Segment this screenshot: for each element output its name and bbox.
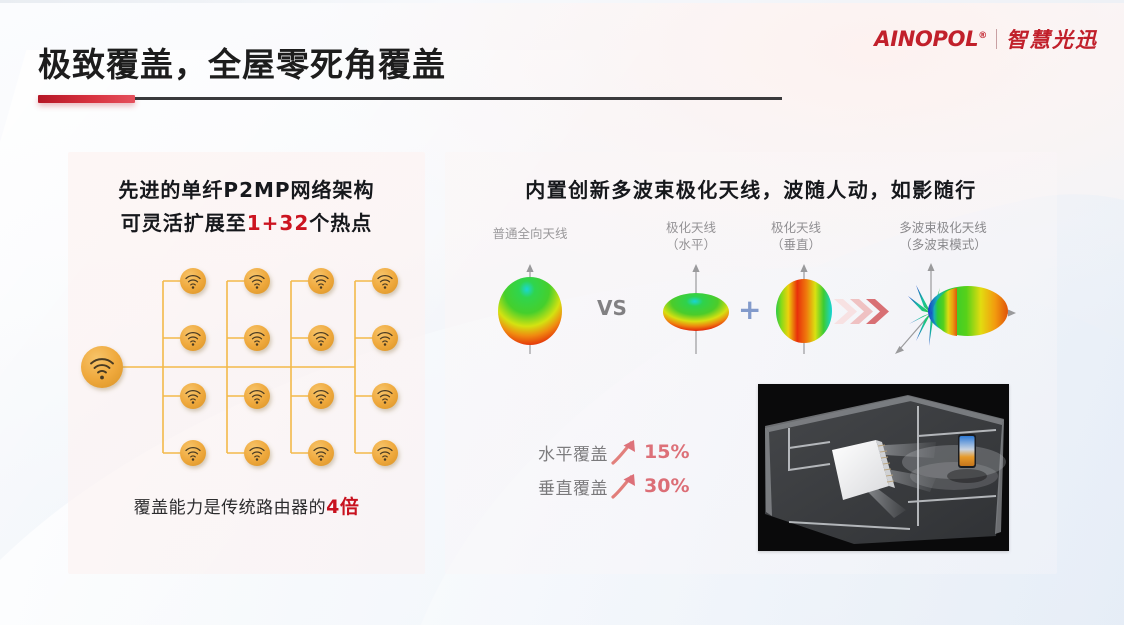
antenna-figure-horizontal: [650, 258, 750, 368]
wifi-node[interactable]: [372, 268, 398, 294]
wifi-node[interactable]: [308, 268, 334, 294]
antenna-figure-vertical: [760, 258, 860, 368]
antenna-figure-multibeam: [885, 258, 1025, 373]
network-links: [120, 281, 374, 453]
wifi-node[interactable]: [308, 383, 334, 409]
main-lobe-throat: [931, 288, 957, 336]
caption-prefix: 覆盖能力是传统路由器的: [134, 498, 327, 518]
left-panel-heading-line2: 可灵活扩展至1+32个热点: [68, 207, 425, 236]
wifi-node[interactable]: [180, 325, 206, 351]
page-title: 极致覆盖，全屋零死角覆盖: [38, 38, 446, 86]
wifi-node[interactable]: [372, 440, 398, 466]
heading-highlight: 1+32: [247, 211, 310, 235]
wifi-node[interactable]: [244, 440, 270, 466]
p2mp-network-diagram: [78, 252, 418, 482]
network-diagram-svg: [78, 252, 418, 482]
title-underline: [38, 94, 782, 103]
logo-wordmark-text: AINOPOL: [874, 27, 978, 51]
wifi-node[interactable]: [372, 325, 398, 351]
radiation-pattern: [498, 277, 562, 345]
wifi-node[interactable]: [180, 383, 206, 409]
logo-divider: [996, 29, 997, 49]
wifi-node[interactable]: [244, 383, 270, 409]
left-panel-heading-line1: 先进的单纤P2MP网络架构: [68, 174, 425, 203]
network-hub-node[interactable]: [81, 346, 123, 388]
right-panel-heading: 内置创新多波束极化天线，波随人动，如影随行: [445, 174, 1057, 203]
wifi-node[interactable]: [244, 325, 270, 351]
title-underline-line: [135, 97, 782, 100]
heading-suffix: 个热点: [309, 211, 372, 235]
caption-highlight: 4倍: [326, 496, 359, 518]
wifi-node[interactable]: [180, 440, 206, 466]
wifi-node[interactable]: [372, 383, 398, 409]
heading-prefix: 可灵活扩展至: [121, 211, 247, 235]
logo-wordmark: AINOPOL®: [874, 27, 987, 51]
logo-registered-mark: ®: [978, 31, 987, 41]
wifi-node[interactable]: [180, 268, 206, 294]
left-panel-caption: 覆盖能力是传统路由器的4倍: [68, 492, 425, 519]
radiation-pattern: [663, 293, 729, 331]
antenna-figure-omni: [478, 258, 588, 368]
room-coverage-render: [758, 384, 1009, 551]
slide-header: 极致覆盖，全屋零死角覆盖 AINOPOL® 智慧光迅: [0, 0, 1124, 120]
title-underline-accent: [38, 95, 135, 103]
brand-logo: AINOPOL® 智慧光迅: [874, 24, 1098, 54]
left-panel: 先进的单纤P2MP网络架构 可灵活扩展至1+32个热点: [68, 152, 425, 574]
logo-chinese-name: 智慧光迅: [1006, 24, 1098, 54]
wifi-node[interactable]: [308, 325, 334, 351]
wifi-node[interactable]: [308, 440, 334, 466]
wifi-node[interactable]: [244, 268, 270, 294]
radiation-pattern: [776, 279, 832, 343]
